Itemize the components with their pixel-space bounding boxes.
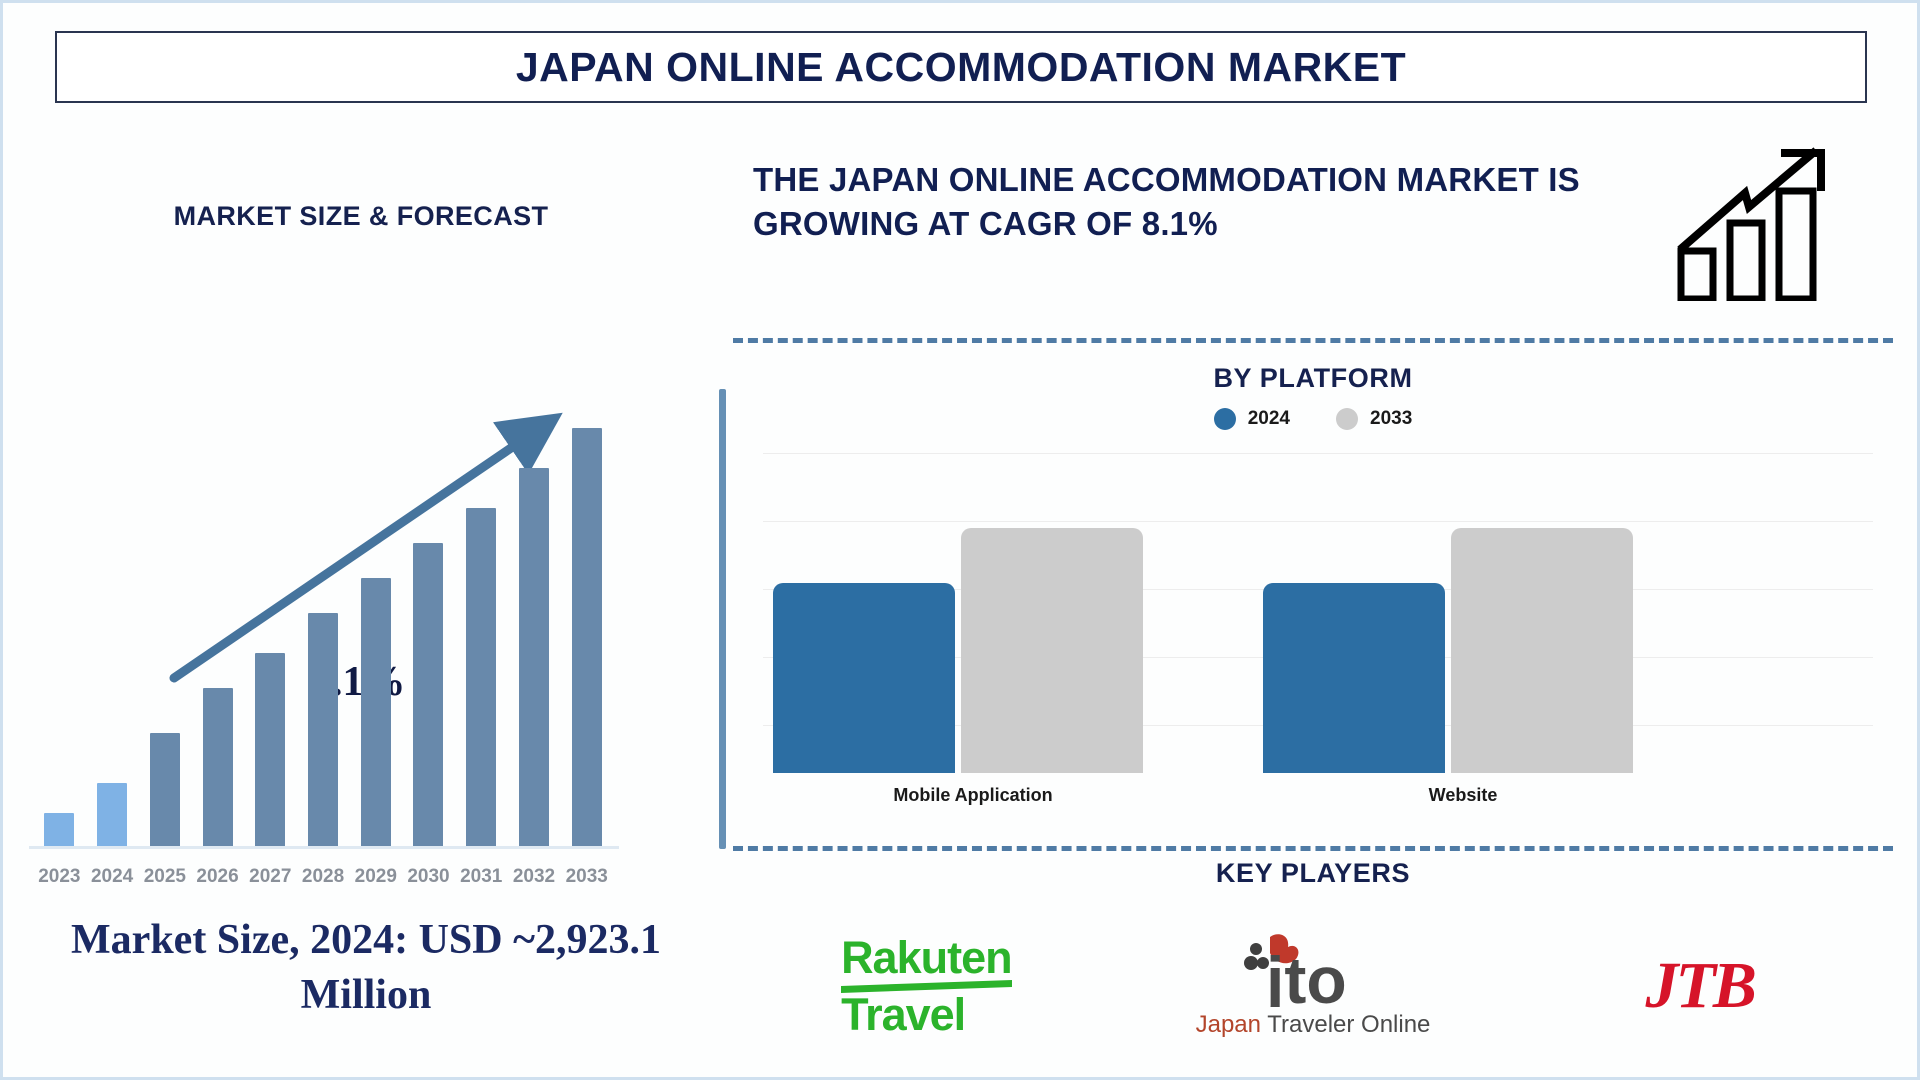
jto-logo: jto Japan Traveler Online [1196, 933, 1431, 1039]
platform-legend: 20242033 [733, 408, 1893, 430]
forecast-bars [33, 368, 613, 848]
platform-group-0: Mobile Application [773, 453, 1173, 773]
divider-top [733, 338, 1893, 343]
year-label: 2024 [86, 866, 139, 888]
key-player-japan-traveler-online: jto Japan Traveler Online [1120, 903, 1507, 1068]
platform-category-label: Website [1263, 785, 1663, 806]
rakuten-wordmark-line2: Travel [841, 992, 1012, 1037]
year-label: 2027 [244, 866, 297, 888]
market-size-forecast-panel: MARKET SIZE & FORECAST 8.1% 202320242025… [11, 123, 711, 1063]
page-title: JAPAN ONLINE ACCOMMODATION MARKET [516, 44, 1406, 91]
year-label: 2029 [349, 866, 402, 888]
year-label: 2033 [560, 866, 613, 888]
cagr-statement: THE JAPAN ONLINE ACCOMMODATION MARKET IS… [753, 158, 1663, 246]
forecast-bar [150, 733, 180, 848]
platform-category-label: Mobile Application [773, 785, 1173, 806]
title-banner: JAPAN ONLINE ACCOMMODATION MARKET [55, 31, 1867, 103]
key-players-row: Rakuten Travel jto [733, 903, 1893, 1068]
key-players-heading: KEY PLAYERS [733, 858, 1893, 889]
by-platform-chart: Mobile ApplicationWebsite [763, 453, 1873, 773]
year-label: 2025 [138, 866, 191, 888]
growth-bar-chart-arrow-icon [1673, 141, 1848, 301]
legend-label: 2024 [1248, 408, 1290, 430]
jto-wordmark-rest: Traveler Online [1261, 1011, 1430, 1038]
divider-bottom [733, 846, 1893, 851]
forecast-bar [203, 688, 233, 848]
infographic-canvas: JAPAN ONLINE ACCOMMODATION MARKET MARKET… [0, 0, 1920, 1080]
forecast-bar [413, 543, 443, 848]
forecast-bar [255, 653, 285, 848]
year-label: 2032 [508, 866, 561, 888]
rakuten-wordmark-line1: Rakuten [841, 935, 1012, 980]
jto-wordmark: Japan Traveler Online [1196, 1011, 1431, 1039]
forecast-bar [308, 613, 338, 848]
jtb-logo: JTB [1646, 948, 1754, 1024]
platform-group-1: Website [1263, 453, 1663, 773]
year-label: 2026 [191, 866, 244, 888]
chart-baseline [29, 846, 619, 849]
year-label: 2031 [455, 866, 508, 888]
platform-bar-2024 [773, 583, 955, 773]
vertical-divider [719, 389, 726, 849]
year-label: 2023 [33, 866, 86, 888]
jto-mark-icon: jto [1218, 933, 1408, 1007]
platform-bar-2033 [961, 528, 1143, 773]
svg-text:jto: jto [1264, 943, 1347, 1007]
platform-bar-2033 [1451, 528, 1633, 773]
forecast-bar [97, 783, 127, 848]
key-player-rakuten-travel: Rakuten Travel [733, 903, 1120, 1068]
market-size-forecast-heading: MARKET SIZE & FORECAST [11, 201, 711, 232]
forecast-bar [572, 428, 602, 848]
year-label: 2028 [297, 866, 350, 888]
key-player-jtb: JTB [1506, 903, 1893, 1068]
year-label: 2030 [402, 866, 455, 888]
forecast-bar [361, 578, 391, 848]
forecast-bar [466, 508, 496, 848]
forecast-bar [44, 813, 74, 848]
forecast-bar [519, 468, 549, 848]
legend-item-2024: 2024 [1214, 408, 1290, 430]
market-size-forecast-chart: 8.1% 20232024202520262027202820292030203… [11, 303, 711, 973]
legend-dot-icon [1214, 408, 1236, 430]
legend-dot-icon [1336, 408, 1358, 430]
platform-bar-2024 [1263, 583, 1445, 773]
legend-label: 2033 [1370, 408, 1412, 430]
year-axis-labels: 2023202420252026202720282029203020312032… [33, 866, 613, 888]
legend-item-2033: 2033 [1336, 408, 1412, 430]
right-panel: THE JAPAN ONLINE ACCOMMODATION MARKET IS… [733, 123, 1913, 1073]
rakuten-travel-logo: Rakuten Travel [841, 935, 1012, 1037]
jto-wordmark-japan: Japan [1196, 1011, 1261, 1038]
market-size-value: Market Size, 2024: USD ~2,923.1 Million [21, 913, 711, 1022]
by-platform-heading: BY PLATFORM [733, 363, 1893, 394]
